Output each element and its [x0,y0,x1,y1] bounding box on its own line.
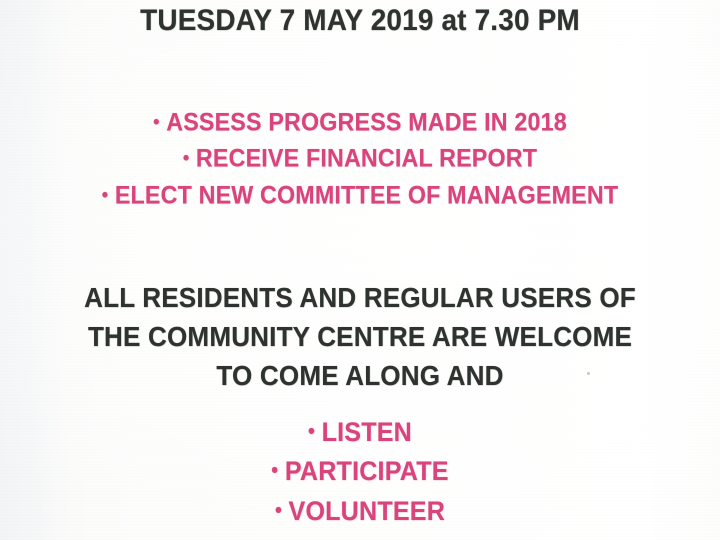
meeting-datetime-heading: TUESDAY 7 MAY 2019 at 7.30 PM [25,4,695,38]
agenda-item-2-label: RECEIVE FINANCIAL REPORT [196,145,537,173]
call-to-action-item-1: •LISTEN [25,416,695,448]
bullet-icon: • [271,455,278,487]
agenda-item-1-label: ASSESS PROGRESS MADE IN 2018 [166,109,567,137]
agenda-item-3: •ELECT NEW COMMITTEE OF MANAGEMENT [25,180,695,211]
agenda-item-2: •RECEIVE FINANCIAL REPORT [25,143,695,174]
bullet-icon: • [275,495,282,527]
call-to-action-item-3: •VOLUNTEER [25,495,695,527]
agenda-item-3-label: ELECT NEW COMMITTEE OF MANAGEMENT [115,182,618,210]
welcome-paragraph-line-1: ALL RESIDENTS AND REGULAR USERS OF [25,281,695,314]
call-to-action-item-3-label: VOLUNTEER [289,496,446,526]
call-to-action-item-2: •PARTICIPATE [25,455,695,487]
call-to-action-item-1-label: LISTEN [322,417,412,447]
agenda-item-1: •ASSESS PROGRESS MADE IN 2018 [25,107,695,138]
welcome-paragraph-line-3: TO COME ALONG AND [25,359,695,392]
welcome-paragraph-line-2: THE COMMUNITY CENTRE ARE WELCOME [25,320,695,353]
notice-content: TUESDAY 7 MAY 2019 at 7.30 PM •ASSESS PR… [0,0,720,540]
bullet-icon: • [153,107,160,137]
bullet-icon: • [183,143,190,173]
scanned-notice-page: TUESDAY 7 MAY 2019 at 7.30 PM •ASSESS PR… [0,0,720,540]
call-to-action-item-2-label: PARTICIPATE [285,456,449,486]
bullet-icon: • [308,416,315,448]
bullet-icon: • [102,180,109,210]
